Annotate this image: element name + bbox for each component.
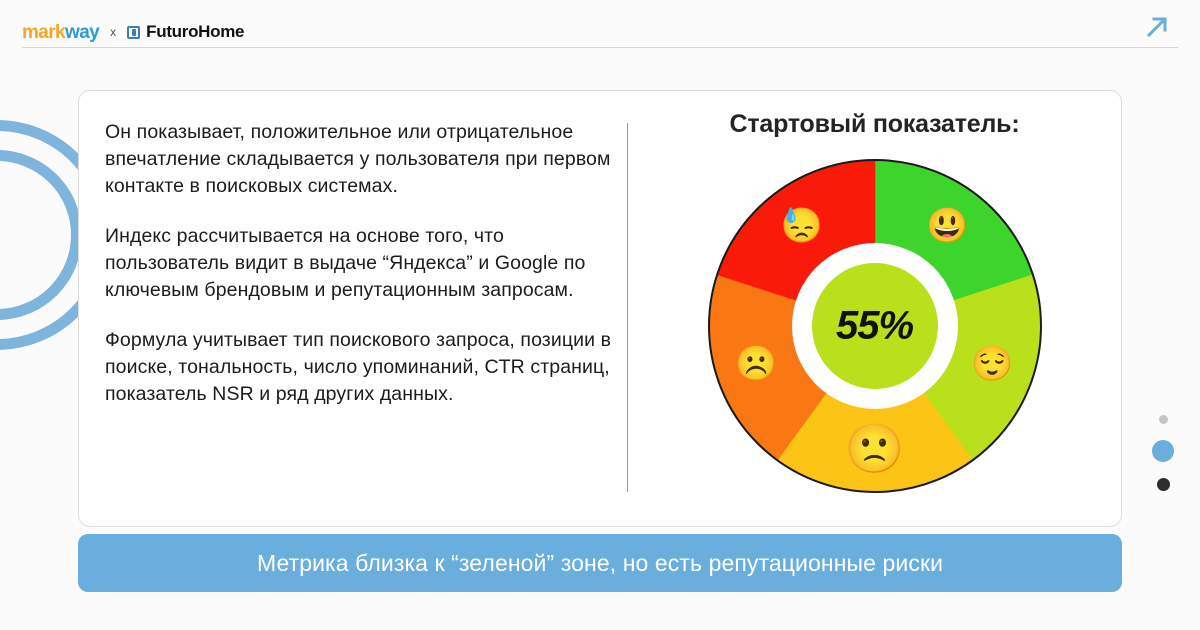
brand-bar: markway x FuturoHome — [22, 22, 244, 42]
brand-separator: x — [110, 25, 116, 39]
gauge-slice-emoji: 🙁 — [845, 426, 905, 474]
gauge-title: Стартовый показатель: — [628, 110, 1121, 139]
gauge-slice-emoji: 😓 — [780, 209, 822, 243]
markway-logo-part-b: way — [65, 22, 99, 43]
summary-banner: Метрика близка к “зеленой” зоне, но есть… — [78, 534, 1122, 592]
markway-logo[interactable]: markway — [22, 23, 99, 42]
gauge-slice-emoji: 😌 — [971, 347, 1013, 381]
description-paragraph-1: Он показывает, положительное или отрицат… — [105, 119, 627, 200]
reputation-gauge-chart: 55% 😃😌🙁☹️😓 — [708, 159, 1042, 493]
rail-dot-inactive[interactable] — [1159, 415, 1168, 424]
arrow-up-right-icon[interactable] — [1142, 12, 1172, 42]
content-card: Он показывает, положительное или отрицат… — [78, 90, 1122, 527]
partner-brand: FuturoHome — [127, 22, 244, 42]
partner-brand-label: FuturoHome — [146, 22, 244, 42]
summary-banner-text: Метрика близка к “зеленой” зоне, но есть… — [257, 550, 943, 577]
rail-dot-dark[interactable] — [1157, 478, 1170, 491]
page-header: markway x FuturoHome — [0, 0, 1200, 48]
markway-logo-part-a: mark — [22, 22, 65, 43]
gauge-panel: Стартовый показатель: 55% 😃😌🙁☹️😓 — [628, 91, 1121, 526]
header-divider — [22, 47, 1178, 48]
gauge-center-value: 55% — [836, 304, 913, 349]
decorative-arc-inner — [0, 150, 82, 320]
dot-rail — [1152, 415, 1174, 491]
description-paragraph-2: Индекс рассчитывается на основе того, чт… — [105, 223, 627, 304]
gauge-slice-emoji: ☹️ — [735, 347, 777, 381]
gauge-slice-emoji: 😃 — [926, 209, 968, 243]
description-panel: Он показывает, положительное или отрицат… — [79, 91, 627, 526]
square-mark-icon — [127, 26, 140, 39]
description-paragraph-3: Формула учитывает тип поискового запроса… — [105, 327, 627, 408]
rail-dot-active[interactable] — [1152, 440, 1174, 462]
